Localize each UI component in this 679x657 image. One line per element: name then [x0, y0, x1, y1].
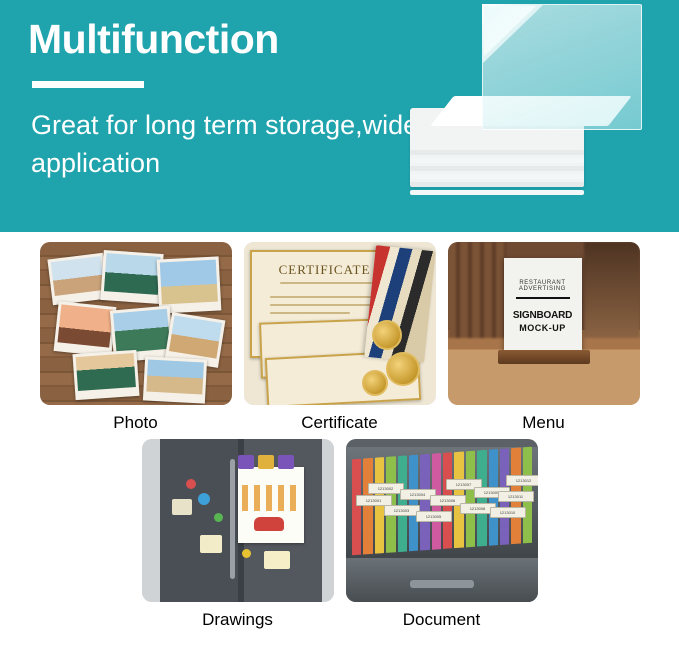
magnet	[186, 479, 196, 489]
menu-line-2: ADVERTISING	[519, 286, 566, 292]
pens-group	[364, 245, 435, 363]
magnet	[198, 493, 210, 505]
drawn-car	[254, 517, 284, 531]
drawn-figures	[242, 485, 300, 511]
gallery-cell-menu: RESTAURANT ADVERTISING SIGNBOARD MOCK-UP…	[448, 242, 640, 433]
folder-tab: 1213011	[498, 491, 534, 502]
folder-tab: 1213003	[384, 505, 420, 516]
hero-banner: Multifunction Great for long term storag…	[0, 0, 679, 232]
magnet-note	[172, 499, 192, 515]
caption-document: Document	[403, 610, 480, 630]
gold-seal	[362, 370, 388, 396]
menu-line-3: SIGNBOARD	[513, 310, 572, 321]
pouch-stack-edges	[410, 150, 584, 198]
gallery-row-1: Photo CERTIFICATE Certificate	[0, 238, 679, 433]
gold-seal	[372, 320, 402, 350]
table-tent-card: RESTAURANT ADVERTISING SIGNBOARD MOCK-UP	[504, 258, 582, 354]
menu-divider	[516, 297, 570, 299]
laminating-pouch-illustration	[406, 0, 666, 220]
caption-certificate: Certificate	[301, 413, 378, 433]
menu-thumbnail: RESTAURANT ADVERTISING SIGNBOARD MOCK-UP	[448, 242, 640, 405]
magnet	[242, 549, 251, 558]
gallery-cell-document: 1213001 1213002 1213003 1213004 1213005 …	[346, 439, 538, 630]
polaroid-photo	[53, 301, 116, 357]
page-title: Multifunction	[28, 16, 428, 63]
certificate-thumbnail: CERTIFICATE	[244, 242, 436, 405]
polaroid-photo	[72, 350, 139, 400]
folder-tab: 1213002	[368, 483, 404, 494]
folder-tab: 1213005	[416, 511, 452, 522]
magnet-note	[264, 551, 290, 569]
certificate-rule	[270, 296, 382, 298]
polaroid-photo	[47, 253, 108, 305]
title-underline-rule	[32, 81, 144, 88]
use-case-gallery: Photo CERTIFICATE Certificate	[0, 232, 679, 631]
gold-seal	[386, 352, 420, 386]
drawer-handle	[410, 580, 474, 588]
magnet	[238, 455, 254, 469]
folder-tab: 1213010	[490, 507, 526, 518]
polaroid-photo	[142, 356, 206, 403]
caption-menu: Menu	[522, 413, 565, 433]
polaroid-photo	[100, 250, 163, 304]
gallery-cell-drawings: Drawings	[142, 439, 334, 630]
hero-subtitle: Great for long term storage,wide applica…	[28, 106, 428, 183]
fridge-handle	[230, 459, 235, 579]
document-thumbnail: 1213001 1213002 1213003 1213004 1213005 …	[346, 439, 538, 602]
caption-photo: Photo	[113, 413, 157, 433]
certificate-rule	[280, 282, 372, 284]
gallery-row-2: Drawings 1213001 1213002	[0, 433, 679, 630]
certificate-rule	[270, 312, 350, 314]
menu-line-4: MOCK-UP	[519, 323, 566, 333]
blurred-shelf-left	[448, 242, 506, 338]
caption-drawings: Drawings	[202, 610, 273, 630]
magnet-note	[200, 535, 222, 553]
drawings-thumbnail	[142, 439, 334, 602]
folder-tab: 1213012	[506, 475, 538, 486]
gallery-cell-photo: Photo	[40, 242, 232, 433]
wooden-card-stand	[498, 350, 590, 364]
hero-text-block: Multifunction Great for long term storag…	[28, 16, 428, 183]
gallery-cell-certificate: CERTIFICATE Certificate	[244, 242, 436, 433]
magnet	[214, 513, 223, 522]
photo-thumbnail	[40, 242, 232, 405]
folder-label-tabs: 1213001 1213002 1213003 1213004 1213005 …	[356, 461, 532, 521]
magnet	[278, 455, 294, 469]
magnet	[258, 455, 274, 469]
certificate-rule	[270, 304, 382, 306]
blurred-shelf-right	[584, 242, 640, 338]
